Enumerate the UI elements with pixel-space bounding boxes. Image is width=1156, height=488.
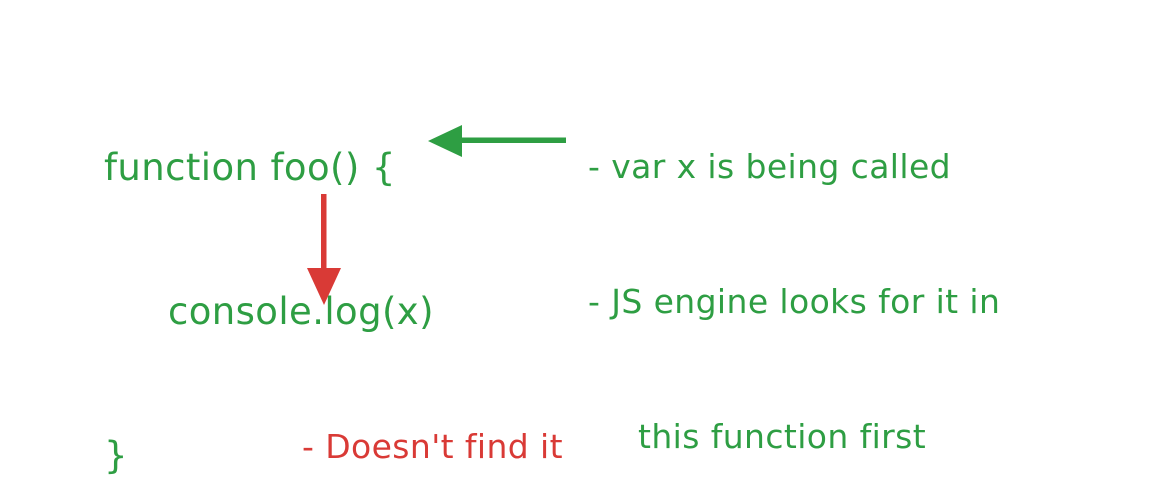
arrow-pointing-left-to-console-log [424, 114, 572, 170]
green-note-line-1: - var x is being called [588, 144, 1000, 189]
red-note-line-1: - Doesn't find it [302, 422, 754, 472]
code-line-function-declaration: function foo() { [104, 144, 434, 192]
diagram-canvas: function foo() { console.log(x) } - var … [0, 0, 1156, 488]
arrow-pointing-down-to-outer-scope [296, 190, 352, 312]
red-annotation-list: - Doesn't find it - Moves to the outer s… [302, 322, 754, 488]
green-note-line-2: - JS engine looks for it in [588, 279, 1000, 324]
